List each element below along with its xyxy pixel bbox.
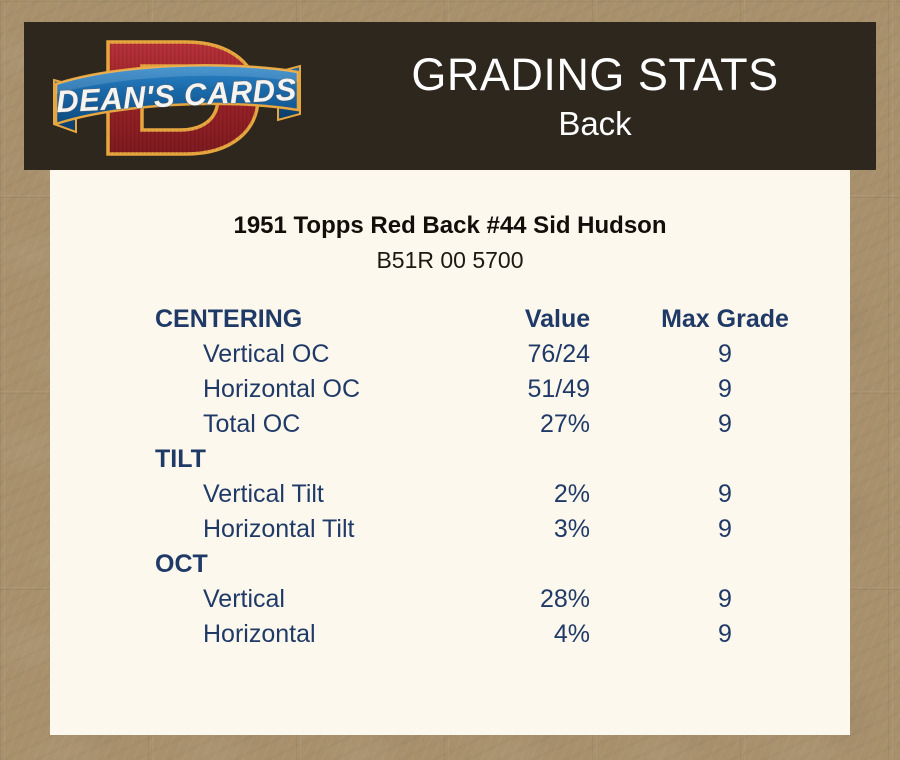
row-label: Horizontal OC xyxy=(50,372,470,407)
section-value-spacer xyxy=(470,442,645,477)
row-value: 27% xyxy=(470,407,645,442)
section-header-oct: OCT xyxy=(50,547,470,582)
card-title: 1951 Topps Red Back #44 Sid Hudson xyxy=(50,211,850,241)
content-panel: 1951 Topps Red Back #44 Sid Hudson B51R … xyxy=(50,170,850,735)
row-grade: 9 xyxy=(645,337,850,372)
grading-stats-table: CENTERING Value Max Grade Vertical OC 76… xyxy=(50,302,850,652)
row-label: Horizontal xyxy=(50,617,470,652)
row-value: 28% xyxy=(470,582,645,617)
section-header-row: TILT xyxy=(50,442,850,477)
table-row: Vertical 28% 9 xyxy=(50,582,850,617)
row-grade: 9 xyxy=(645,372,850,407)
row-grade: 9 xyxy=(645,582,850,617)
column-header-max-grade: Max Grade xyxy=(645,302,850,337)
page-subtitle: Back xyxy=(558,104,631,144)
row-grade: 9 xyxy=(645,617,850,652)
table-row: Total OC 27% 9 xyxy=(50,407,850,442)
row-grade: 9 xyxy=(645,512,850,547)
page-title: GRADING STATS xyxy=(411,49,778,101)
header-bar: DEAN'S CARDS GRADING STATS Back xyxy=(24,22,876,170)
logo-svg: DEAN'S CARDS xyxy=(46,28,308,168)
table-row: Horizontal Tilt 3% 9 xyxy=(50,512,850,547)
row-label: Vertical Tilt xyxy=(50,477,470,512)
table-row: Horizontal 4% 9 xyxy=(50,617,850,652)
row-value: 3% xyxy=(470,512,645,547)
section-value-spacer xyxy=(470,547,645,582)
row-label: Vertical xyxy=(50,582,470,617)
column-header-value: Value xyxy=(470,302,645,337)
section-header-centering: CENTERING xyxy=(50,302,470,337)
row-value: 76/24 xyxy=(470,337,645,372)
header-title-group: GRADING STATS Back xyxy=(314,22,876,170)
row-label: Horizontal Tilt xyxy=(50,512,470,547)
row-value: 2% xyxy=(470,477,645,512)
section-header-tilt: TILT xyxy=(50,442,470,477)
table-header-row: CENTERING Value Max Grade xyxy=(50,302,850,337)
row-value: 4% xyxy=(470,617,645,652)
row-grade: 9 xyxy=(645,407,850,442)
row-value: 51/49 xyxy=(470,372,645,407)
stats-table-body: CENTERING Value Max Grade Vertical OC 76… xyxy=(50,302,850,652)
row-grade: 9 xyxy=(645,477,850,512)
section-grade-spacer xyxy=(645,547,850,582)
table-row: Vertical Tilt 2% 9 xyxy=(50,477,850,512)
card-code: B51R 00 5700 xyxy=(50,246,850,275)
row-label: Total OC xyxy=(50,407,470,442)
section-header-row: OCT xyxy=(50,547,850,582)
table-row: Vertical OC 76/24 9 xyxy=(50,337,850,372)
table-row: Horizontal OC 51/49 9 xyxy=(50,372,850,407)
row-label: Vertical OC xyxy=(50,337,470,372)
deans-cards-logo: DEAN'S CARDS xyxy=(46,28,308,168)
section-grade-spacer xyxy=(645,442,850,477)
